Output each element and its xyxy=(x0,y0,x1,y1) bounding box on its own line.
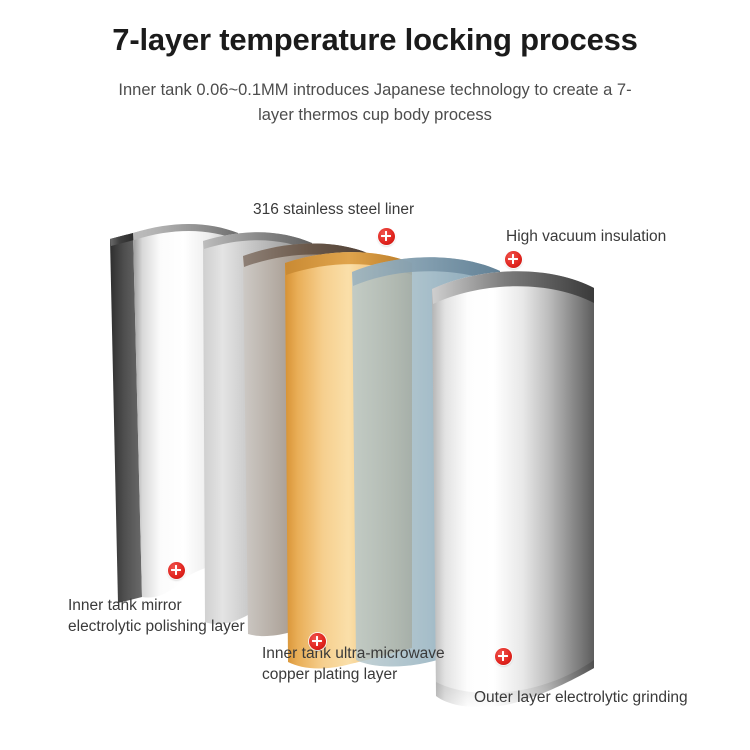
plus-marker-icon-inner-tank-mirror-polishing[interactable] xyxy=(168,562,185,579)
callout-label-inner-tank-mirror-polishing: Inner tank mirror electrolytic polishing… xyxy=(68,595,245,637)
plus-marker-icon-outer-layer-grinding[interactable] xyxy=(495,648,512,665)
callout-label-stainless-steel-liner: 316 stainless steel liner xyxy=(253,199,414,220)
layer-diagram xyxy=(0,0,750,750)
infographic-page: 7-layer temperature locking process Inne… xyxy=(0,0,750,750)
plus-marker-icon-high-vacuum-insulation[interactable] xyxy=(505,251,522,268)
layer-diagram-svg xyxy=(0,0,750,750)
layer-outer-grinding xyxy=(432,271,594,707)
callout-label-high-vacuum-insulation: High vacuum insulation xyxy=(506,226,666,247)
callout-label-inner-tank-copper-plating: Inner tank ultra-microwave copper platin… xyxy=(262,643,445,685)
callout-label-outer-layer-electrolytic-grinding: Outer layer electrolytic grinding xyxy=(474,687,688,708)
plus-marker-icon-inner-tank-copper-plating[interactable] xyxy=(309,633,326,650)
plus-marker-icon-stainless-steel-liner[interactable] xyxy=(378,228,395,245)
